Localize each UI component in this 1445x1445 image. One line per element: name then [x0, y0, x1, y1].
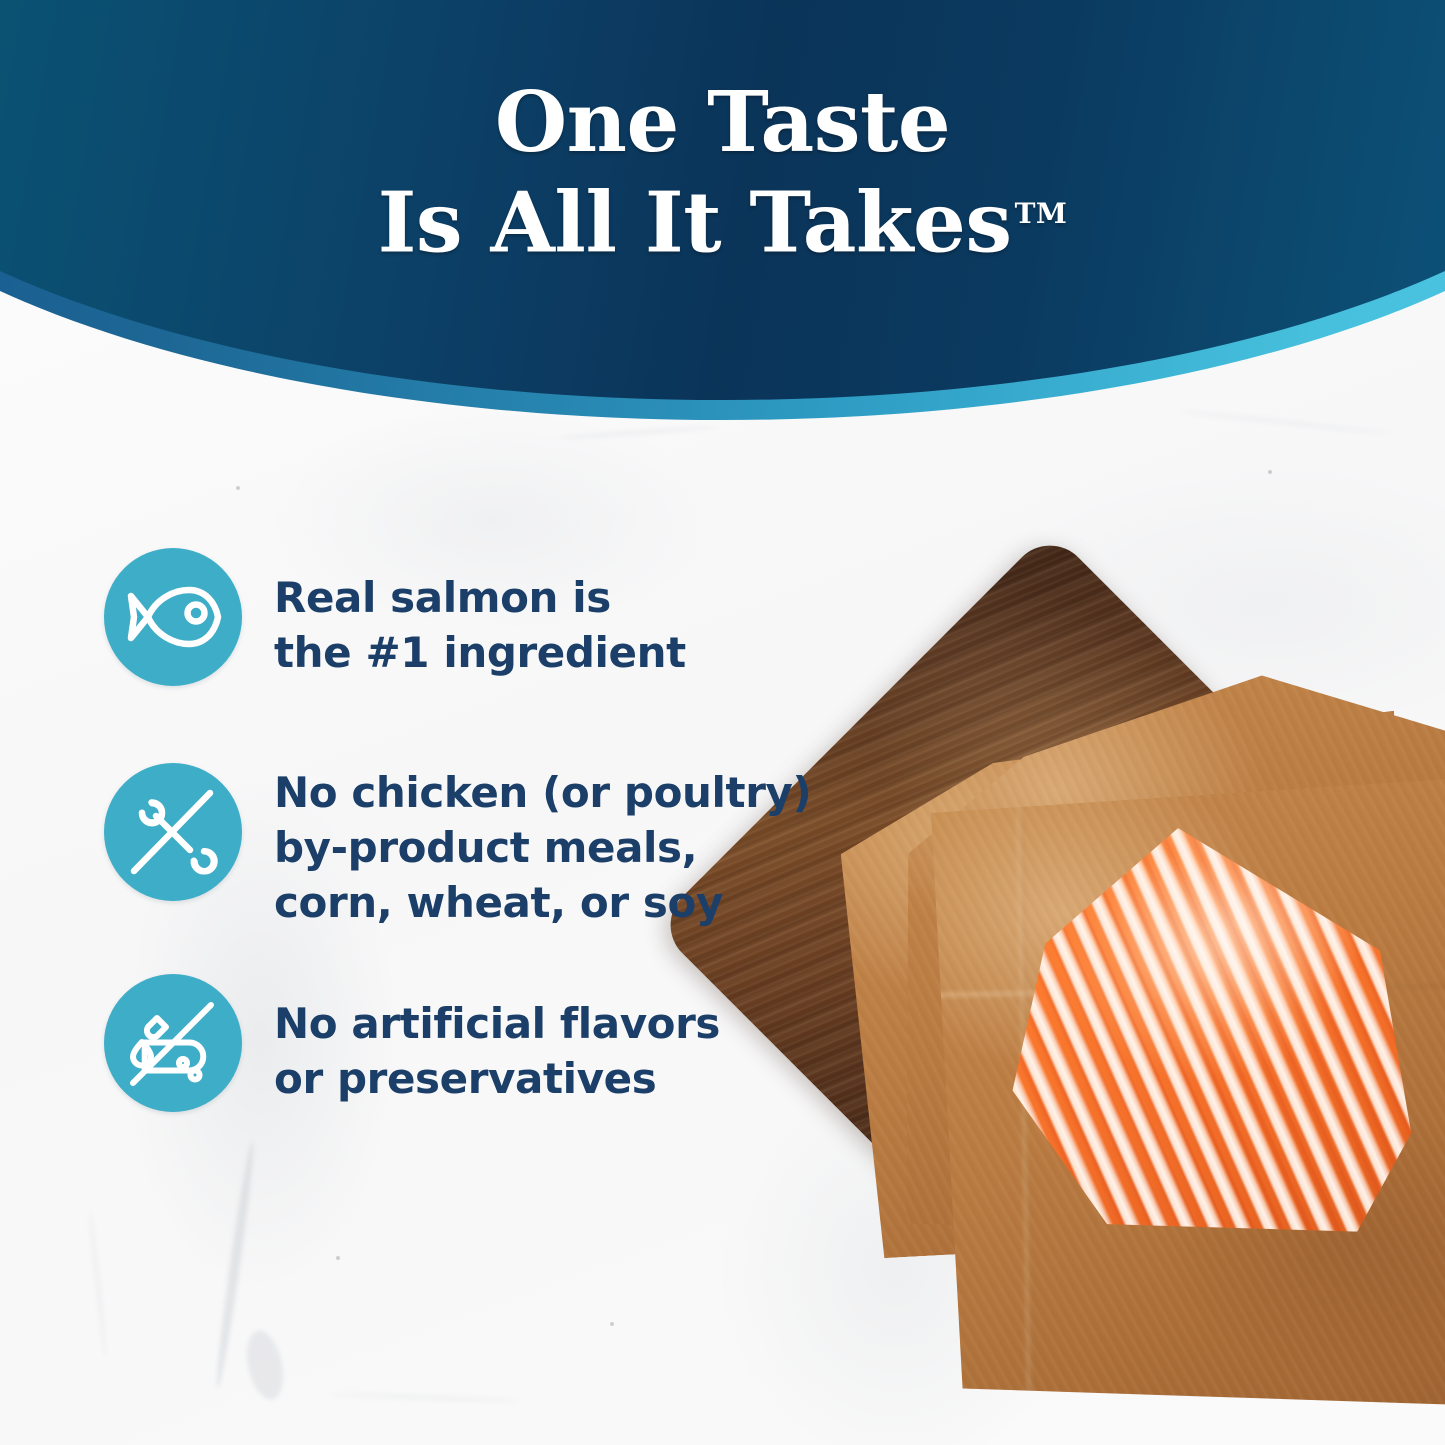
- feature-line: Real salmon is: [274, 570, 686, 625]
- feature-item-no-byproducts: No chicken (or poultry) by-product meals…: [104, 763, 811, 930]
- headline-line-1: One Taste: [495, 73, 950, 171]
- headline-line-2-wrap: Is All It TakesTM: [0, 168, 1445, 269]
- marble-speck: [336, 1256, 340, 1260]
- no-bone-icon: [104, 763, 242, 901]
- feature-text-no-artificial: No artificial flavors or preservatives: [274, 974, 720, 1106]
- fish-icon-badge: [104, 548, 242, 686]
- marble-speck: [610, 1322, 614, 1326]
- headline-line-2: Is All It Takes: [378, 174, 1012, 272]
- page-title: One Taste Is All It TakesTM: [0, 0, 1445, 269]
- feature-line: corn, wheat, or soy: [274, 875, 811, 930]
- marble-speck: [1268, 470, 1272, 474]
- feature-line: No artificial flavors: [274, 996, 720, 1051]
- feature-line: the #1 ingredient: [274, 625, 686, 680]
- feature-item-no-artificial: No artificial flavors or preservatives: [104, 974, 720, 1112]
- feature-text-real-salmon: Real salmon is the #1 ingredient: [274, 548, 686, 680]
- fish-icon: [104, 548, 242, 686]
- trademark-symbol: TM: [1015, 197, 1068, 230]
- feature-item-real-salmon: Real salmon is the #1 ingredient: [104, 548, 686, 686]
- feature-text-no-byproducts: No chicken (or poultry) by-product meals…: [274, 763, 811, 930]
- no-bone-icon-badge: [104, 763, 242, 901]
- hero-banner: One Taste Is All It TakesTM: [0, 0, 1445, 430]
- marble-speck: [236, 486, 240, 490]
- feature-line: or preservatives: [274, 1051, 720, 1106]
- feature-line: No chicken (or poultry): [274, 765, 811, 820]
- feature-line: by-product meals,: [274, 820, 811, 875]
- salmon-photo: [740, 575, 1445, 1445]
- hero-text-block: One Taste Is All It TakesTM: [0, 0, 1445, 269]
- promo-image-root: One Taste Is All It TakesTM: [0, 0, 1445, 1445]
- no-test-tube-icon-badge: [104, 974, 242, 1112]
- no-test-tube-icon: [104, 974, 242, 1112]
